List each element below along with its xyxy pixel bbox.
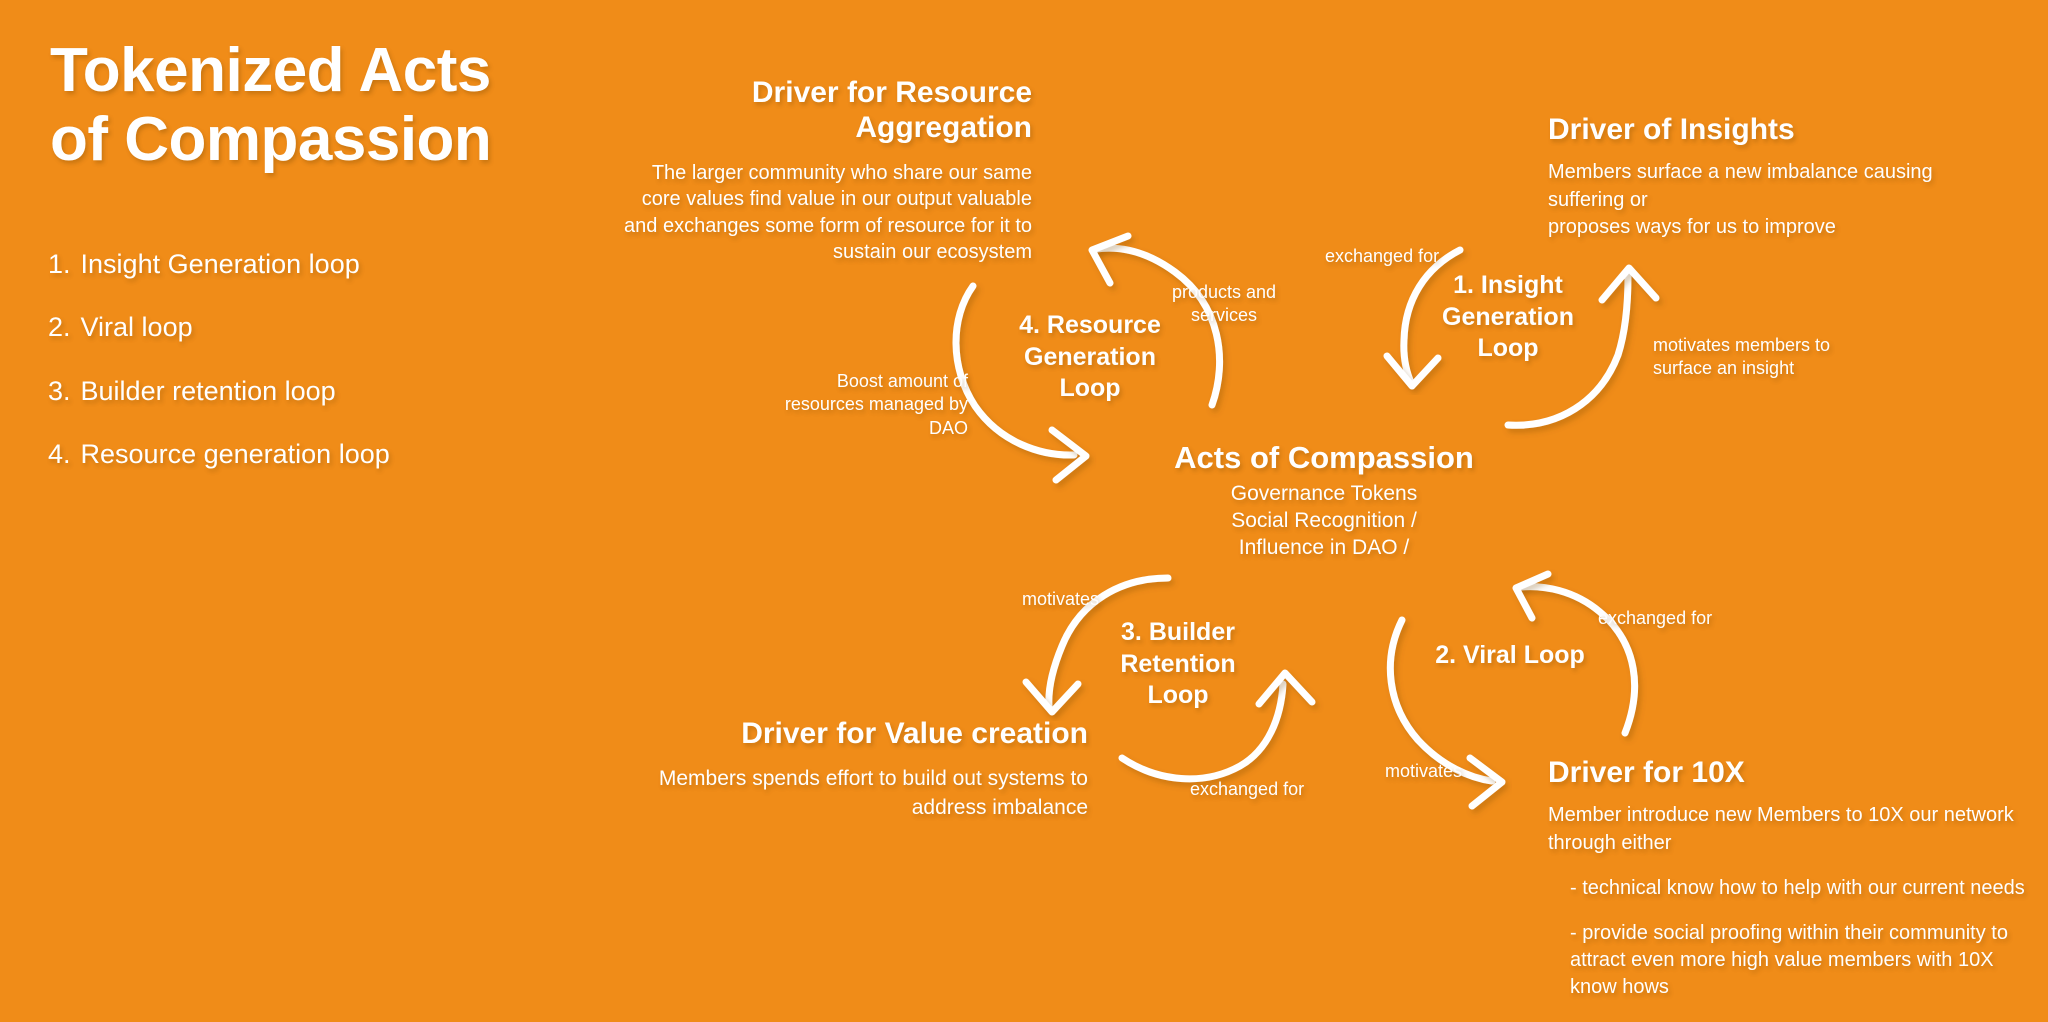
edge-label-exchanged-for-builder: exchanged for	[1190, 778, 1350, 801]
list-item: 3. Builder retention loop	[48, 375, 518, 408]
list-item-number: 3.	[48, 375, 71, 408]
list-item-number: 2.	[48, 311, 71, 344]
node-body-bullet-1: - technical know how to help with our cu…	[1548, 875, 2026, 902]
edge-label-boost-resources: Boost amount of resources managed by DAO	[772, 370, 968, 440]
node-title: Acts of Compassion	[1148, 440, 1500, 477]
edge-label-motivates-viral: motivates	[1385, 760, 1505, 783]
node-title: Driver for 10X	[1548, 755, 2026, 790]
list-item-label: Resource generation loop	[81, 438, 518, 471]
node-title: Driver for Value creation	[620, 716, 1088, 751]
node-title: Driver for Resource Aggregation	[620, 75, 1032, 146]
loop-label-viral: 2. Viral Loop	[1430, 640, 1590, 672]
list-item-number: 1.	[48, 248, 71, 281]
loop-list: 1. Insight Generation loop 2. Viral loop…	[48, 248, 518, 502]
page-title-line-1: Tokenized Acts	[50, 36, 670, 105]
node-body: Members spends effort to build out syste…	[620, 765, 1088, 822]
list-item-number: 4.	[48, 438, 71, 471]
node-driver-for-10x: Driver for 10X Member introduce new Memb…	[1548, 755, 2026, 1002]
edge-label-motivates-builder: motivates	[1022, 588, 1132, 611]
list-item-label: Viral loop	[81, 311, 518, 344]
node-acts-of-compassion: Acts of Compassion Governance Tokens Soc…	[1148, 440, 1500, 561]
loop-label-insight-generation: 1. Insight Generation Loop	[1418, 270, 1598, 365]
node-body: Member introduce new Members to 10X our …	[1548, 802, 2026, 1001]
node-driver-for-resource-aggregation: Driver for Resource Aggregation The larg…	[620, 75, 1032, 265]
node-body: Governance Tokens Social Recognition / I…	[1148, 480, 1500, 562]
node-title: Driver of Insights	[1548, 112, 1948, 147]
page-title: Tokenized Acts of Compassion	[50, 36, 670, 175]
list-item: 2. Viral loop	[48, 311, 518, 344]
edge-label-exchanged-for-viral: exchanged for	[1598, 607, 1758, 630]
list-item: 1. Insight Generation loop	[48, 248, 518, 281]
node-driver-of-insights: Driver of Insights Members surface a new…	[1548, 112, 1948, 241]
list-item-label: Insight Generation loop	[81, 248, 518, 281]
node-body-intro: Member introduce new Members to 10X our …	[1548, 802, 2026, 856]
node-body-bullet-2: - provide social proofing within their c…	[1548, 920, 2026, 1002]
node-body: The larger community who share our same …	[620, 160, 1032, 266]
node-body: Members surface a new imbalance causing …	[1548, 159, 1948, 241]
diagram-canvas: Tokenized Acts of Compassion 1. Insight …	[0, 0, 2048, 1022]
page-title-line-2: of Compassion	[50, 105, 670, 174]
edge-label-products-and-services: products and services	[1164, 281, 1284, 328]
edge-label-motivates-surface-insight: motivates members to surface an insight	[1653, 334, 1853, 381]
edge-label-exchanged-for-top: exchanged for	[1325, 245, 1485, 268]
list-item: 4. Resource generation loop	[48, 438, 518, 471]
list-item-label: Builder retention loop	[81, 375, 518, 408]
node-driver-for-value-creation: Driver for Value creation Members spends…	[620, 716, 1088, 822]
loop-label-builder-retention: 3. Builder Retention Loop	[1088, 617, 1268, 712]
loop-label-resource-generation: 4. Resource Generation Loop	[1000, 310, 1180, 405]
